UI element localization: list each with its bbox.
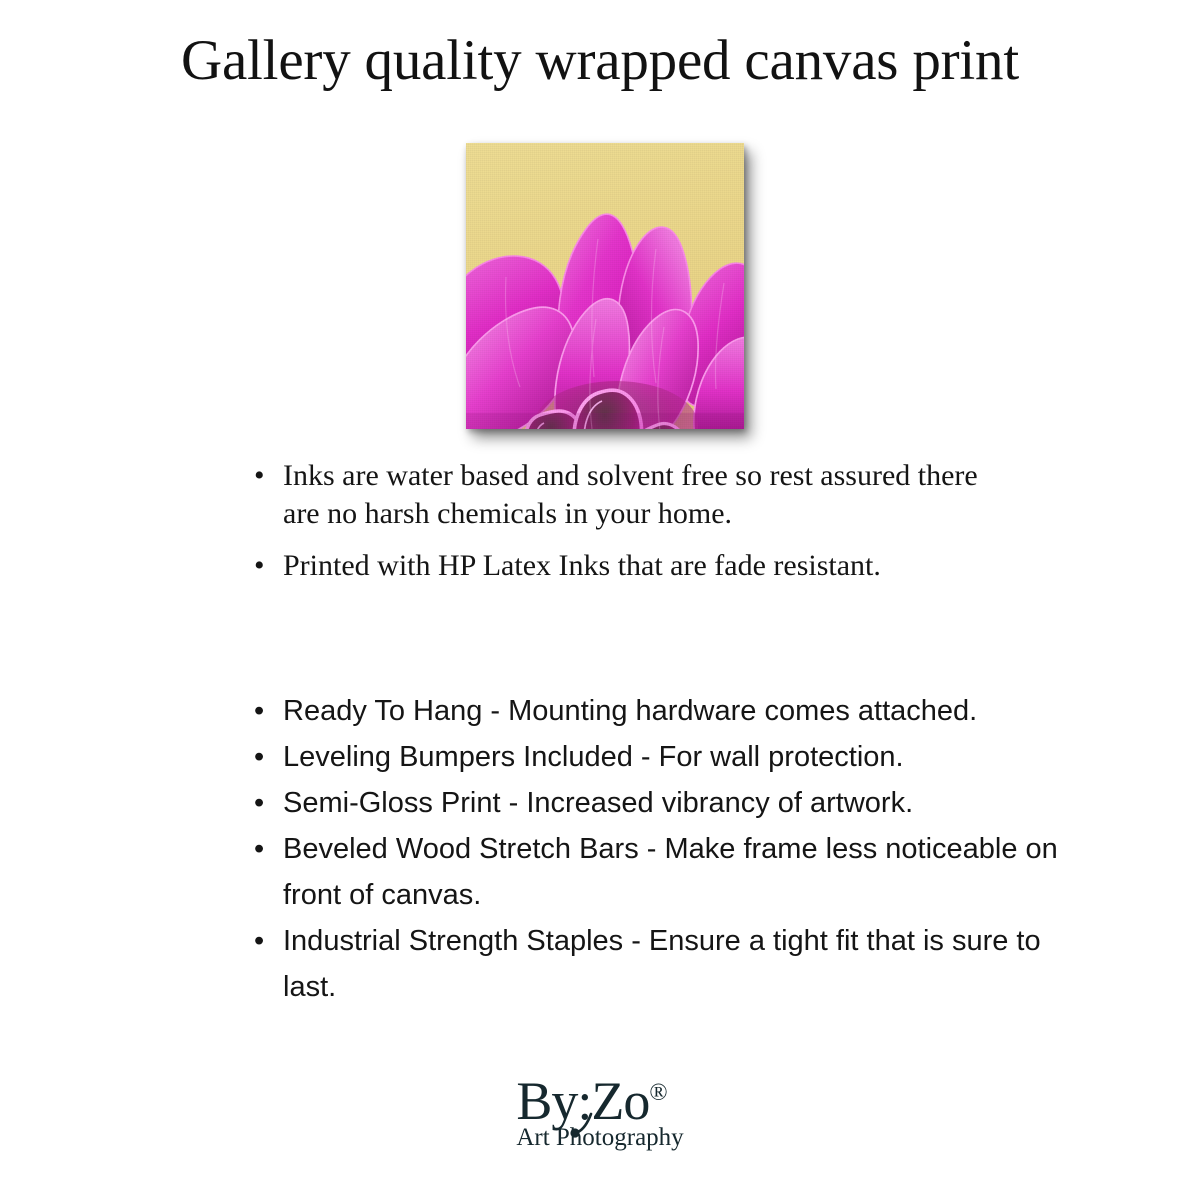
brand-logo-inner: By:Zo® Art Photography (516, 1074, 683, 1150)
bullet-marker: • (254, 918, 264, 964)
registered-trademark-icon: ® (649, 1080, 667, 1106)
list-item: • Beveled Wood Stretch Bars - Make frame… (248, 826, 1078, 918)
list-item-text: Industrial Strength Staples - Ensure a t… (283, 925, 1041, 1003)
list-item: • Inks are water based and solvent free … (248, 457, 1008, 533)
brand-name: By:Zo® (516, 1074, 683, 1128)
brand-name-text: By:Zo (516, 1071, 649, 1131)
product-info-page: Gallery quality wrapped canvas print (0, 0, 1200, 1200)
list-item: • Industrial Strength Staples - Ensure a… (248, 918, 1078, 1010)
list-item: • Printed with HP Latex Inks that are fa… (248, 549, 1008, 583)
list-item: • Ready To Hang - Mounting hardware come… (248, 688, 1078, 734)
feature-list-sans: • Ready To Hang - Mounting hardware come… (248, 688, 1078, 1010)
bullet-marker: • (254, 780, 264, 826)
bullet-marker: • (254, 688, 264, 734)
list-item-text: Beveled Wood Stretch Bars - Make frame l… (283, 833, 1058, 911)
list-item-text: Printed with HP Latex Inks that are fade… (283, 549, 881, 582)
brand-logo: By:Zo® Art Photography (0, 1074, 1200, 1150)
list-item: • Semi-Gloss Print - Increased vibrancy … (248, 780, 1078, 826)
list-item-text: Leveling Bumpers Included - For wall pro… (283, 741, 904, 773)
list-item: • Leveling Bumpers Included - For wall p… (248, 734, 1078, 780)
canvas-print-image (466, 143, 744, 429)
feature-list-serif: • Inks are water based and solvent free … (248, 457, 1008, 583)
page-title: Gallery quality wrapped canvas print (0, 28, 1200, 94)
list-item-text: Inks are water based and solvent free so… (283, 459, 978, 530)
bullet-marker: • (254, 549, 265, 583)
list-item-text: Semi-Gloss Print - Increased vibrancy of… (283, 787, 913, 819)
bullet-marker: • (254, 826, 264, 872)
bullet-marker: • (254, 457, 265, 495)
canvas-surface (466, 143, 744, 429)
dahlia-flower-artwork (466, 143, 744, 429)
brand-tagline: Art Photography (516, 1125, 683, 1150)
list-item-text: Ready To Hang - Mounting hardware comes … (283, 695, 977, 727)
bullet-marker: • (254, 734, 264, 780)
